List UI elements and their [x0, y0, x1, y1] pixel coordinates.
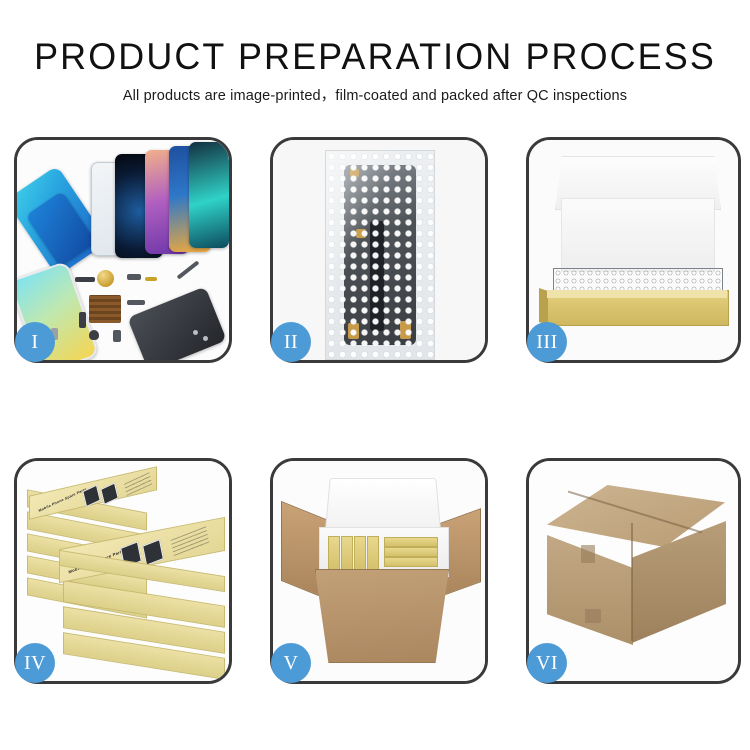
- carton-tape-lower: [585, 609, 601, 623]
- plastic-sheen: [326, 151, 434, 359]
- steps-grid: I II: [14, 137, 742, 687]
- box-front-edge: [547, 290, 727, 298]
- page-subtitle: All products are image-printed，film-coat…: [0, 87, 750, 105]
- step-badge-1: I: [15, 322, 55, 362]
- yellow-box-item: [384, 557, 438, 567]
- speaker-part: [89, 330, 99, 340]
- yellow-box-item: [384, 547, 438, 557]
- yellow-box-item: [384, 537, 438, 547]
- step-badge-2: II: [271, 322, 311, 362]
- carton-tape-upper: [581, 545, 595, 563]
- screw-part: [203, 336, 208, 341]
- product-preparation-infographic: PRODUCT PREPARATION PROCESS All products…: [0, 0, 750, 750]
- flex-cable-part: [75, 277, 95, 282]
- step-panel-4: Mobile Phone Spare Parts Mobile Phone Sp…: [14, 458, 232, 684]
- box-label-spec-lines: [171, 526, 210, 557]
- screwdriver-tool: [177, 260, 200, 279]
- copper-coil-part: [97, 270, 114, 287]
- step-panel-2: II: [270, 137, 488, 363]
- step-badge-5: V: [271, 643, 311, 683]
- page-title: PRODUCT PREPARATION PROCESS: [11, 36, 739, 78]
- box-label-spec-lines: [124, 472, 152, 496]
- gold-contact-part: [145, 277, 157, 281]
- teal-display-screen: [189, 142, 229, 248]
- box-label-screen-image: [100, 482, 118, 504]
- yellow-box-item: [354, 536, 366, 572]
- step-badge-3: III: [527, 322, 567, 362]
- box-stack: Mobile Phone Spare Parts Mobile Phone Sp…: [25, 475, 225, 671]
- step-badge-6: VI: [527, 643, 567, 683]
- box-label-screen-image: [142, 539, 164, 566]
- step-panel-1: I: [14, 137, 232, 363]
- carton-vertical-edge: [631, 523, 633, 641]
- step-panel-3: III: [526, 137, 741, 363]
- step-badge-4: IV: [15, 643, 55, 683]
- cardboard-carton-body: [315, 569, 449, 663]
- white-foam-sheet: [561, 198, 715, 272]
- bubble-wrap-bag: [325, 150, 435, 360]
- circuit-board-part: [89, 295, 121, 323]
- screw-part: [193, 330, 198, 335]
- button-part: [113, 330, 121, 342]
- yellow-box-item: [328, 536, 340, 572]
- connector-part: [127, 274, 141, 280]
- step-panel-5: V: [270, 458, 488, 684]
- small-part-a: [79, 312, 86, 328]
- yellow-box-item: [367, 536, 379, 572]
- phone-back-chassis: [127, 286, 227, 360]
- header: PRODUCT PREPARATION PROCESS All products…: [0, 0, 750, 105]
- small-part-b: [127, 300, 145, 305]
- step-panel-6: VI: [526, 458, 741, 684]
- yellow-box-item: [341, 536, 353, 572]
